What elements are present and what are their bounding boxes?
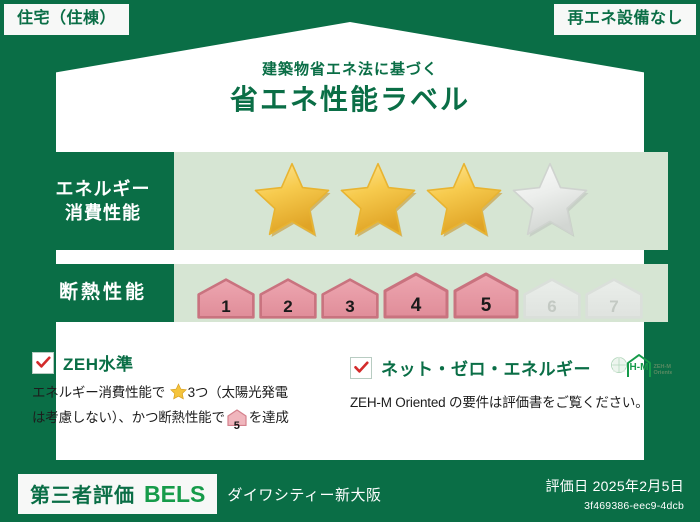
svg-text:ZEH-M: ZEH-M [654,364,672,370]
inline-grade-number: 5 [227,421,247,432]
inline-grade-badge: 5 [227,409,247,433]
building-name: ダイワシティー新大阪 [227,484,381,505]
note-nze-body: ZEH-M Oriented の要件は評価書をご覧ください。 [350,392,672,414]
insulation-grade-scale: 1234567 [174,264,668,322]
note-zeh-text-4: を達成 [249,410,289,425]
note-zeh-standard: ZEH水準 エネルギー消費性能で 3つ（太陽光発電は考慮しない）、かつ断熱性能で… [32,350,328,433]
note-nze-title: ネット・ゼロ・エネルギー [381,355,591,380]
note-zeh-text-1: エネルギー消費性能で [32,385,165,400]
note-zeh-header: ZEH水準 [32,350,328,375]
star-filled-icon [424,160,504,243]
note-net-zero-energy: ネット・ゼロ・エネルギー H-M ZEH-M Oriented [350,350,672,433]
star-empty-icon [510,160,590,243]
grade-badge-number: 7 [584,298,644,315]
notes-section: ZEH水準 エネルギー消費性能で 3つ（太陽光発電は考慮しない）、かつ断熱性能で… [32,350,672,433]
note-zeh-title: ZEH水準 [63,350,134,375]
title-main: 省エネ性能ラベル [0,85,700,116]
star-filled-icon [252,160,332,243]
checkmark-icon [32,352,54,374]
tag-building-type: 住宅（住棟） [4,4,129,35]
grade-badge-empty: 7 [584,267,644,319]
metric-label-energy-line1: エネルギー [56,177,151,201]
metric-label-insulation: 断熱性能 [32,264,174,322]
bels-badge-en: BELS [144,481,205,508]
grade-badge-number: 6 [522,298,582,315]
note-zeh-text-2: 3つ（太陽光発電 [188,385,288,400]
metric-row-energy-consumption: エネルギー 消費性能 [32,152,668,250]
footer-left-group: 第三者評価 BELS ダイワシティー新大阪 [18,474,381,514]
note-zeh-text-3: は考慮しない）、かつ断熱性能で [32,410,225,425]
metric-row-insulation: 断熱性能 1234567 [32,264,668,322]
checkmark-icon [350,357,372,379]
evaluation-id: 3f469386-eec9-4dcb [545,500,684,512]
grade-badge-filled: 1 [196,267,256,319]
metric-label-energy-line2: 消費性能 [65,201,141,225]
energy-performance-label: 住宅（住棟） 再エネ設備なし 建築物省エネ法に基づく 省エネ性能ラベル エネルギ… [0,0,700,522]
tag-renewable-energy: 再エネ設備なし [554,4,696,35]
svg-text:Oriented: Oriented [654,370,673,376]
evaluation-date: 評価日 2025年2月5日 [545,476,684,496]
metric-label-energy-consumption: エネルギー 消費性能 [32,152,174,250]
grade-badge-filled: 3 [320,267,380,319]
page-title: 建築物省エネ法に基づく 省エネ性能ラベル [0,62,700,115]
grade-badge-filled: 5 [452,267,520,319]
zeh-m-oriented-logo-icon: H-M ZEH-M Oriented [606,350,672,385]
grade-badge-number: 4 [382,296,450,315]
star-rating [174,152,668,250]
grade-badge-empty: 6 [522,267,582,319]
star-filled-icon [338,160,418,243]
grade-badge-filled: 2 [258,267,318,319]
footer-bar: 第三者評価 BELS ダイワシティー新大阪 評価日 2025年2月5日 3f46… [0,464,700,522]
note-nze-header: ネット・ゼロ・エネルギー H-M ZEH-M Oriented [350,350,672,385]
grade-badge-filled: 4 [382,267,450,319]
svg-text:H-M: H-M [630,362,649,373]
footer-right-group: 評価日 2025年2月5日 3f469386-eec9-4dcb [545,476,684,512]
grade-badge-number: 1 [196,298,256,315]
bels-badge-jp: 第三者評価 [30,479,135,508]
bels-badge: 第三者評価 BELS [18,474,217,514]
grade-badge-number: 3 [320,298,380,315]
inline-star-icon [166,388,187,403]
title-subtitle: 建築物省エネ法に基づく [0,62,700,79]
note-zeh-body: エネルギー消費性能で 3つ（太陽光発電は考慮しない）、かつ断熱性能で 5 を達成 [32,382,328,433]
grade-badge-number: 5 [452,296,520,315]
grade-badge-number: 2 [258,298,318,315]
metric-label-insulation-text: 断熱性能 [59,280,147,306]
